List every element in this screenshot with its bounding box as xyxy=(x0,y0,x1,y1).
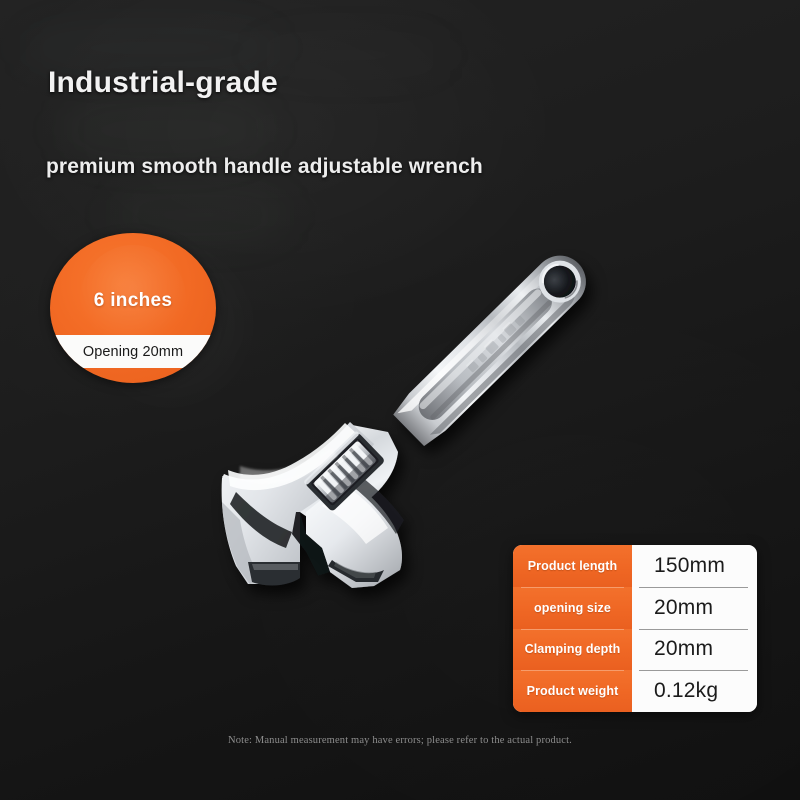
spec-value: 150mm xyxy=(632,545,757,587)
wrench-handle xyxy=(390,245,596,449)
footnote-text: Note: Manual measurement may have errors… xyxy=(0,735,800,746)
spec-table: Product length 150mm opening size 20mm C… xyxy=(513,545,757,712)
spec-value: 20mm xyxy=(632,629,757,671)
spec-value: 20mm xyxy=(632,587,757,629)
table-row: Clamping depth 20mm xyxy=(513,629,757,671)
table-row: Product weight 0.12kg xyxy=(513,670,757,712)
spec-label: Product weight xyxy=(513,670,632,712)
wrench-head xyxy=(222,422,404,588)
product-banner: Industrial-grade premium smooth handle a… xyxy=(0,0,800,800)
spec-label: opening size xyxy=(513,587,632,629)
spec-label: Clamping depth xyxy=(513,629,632,671)
spec-value: 0.12kg xyxy=(632,670,757,712)
table-row: Product length 150mm xyxy=(513,545,757,587)
table-row: opening size 20mm xyxy=(513,587,757,629)
spec-label: Product length xyxy=(513,545,632,587)
